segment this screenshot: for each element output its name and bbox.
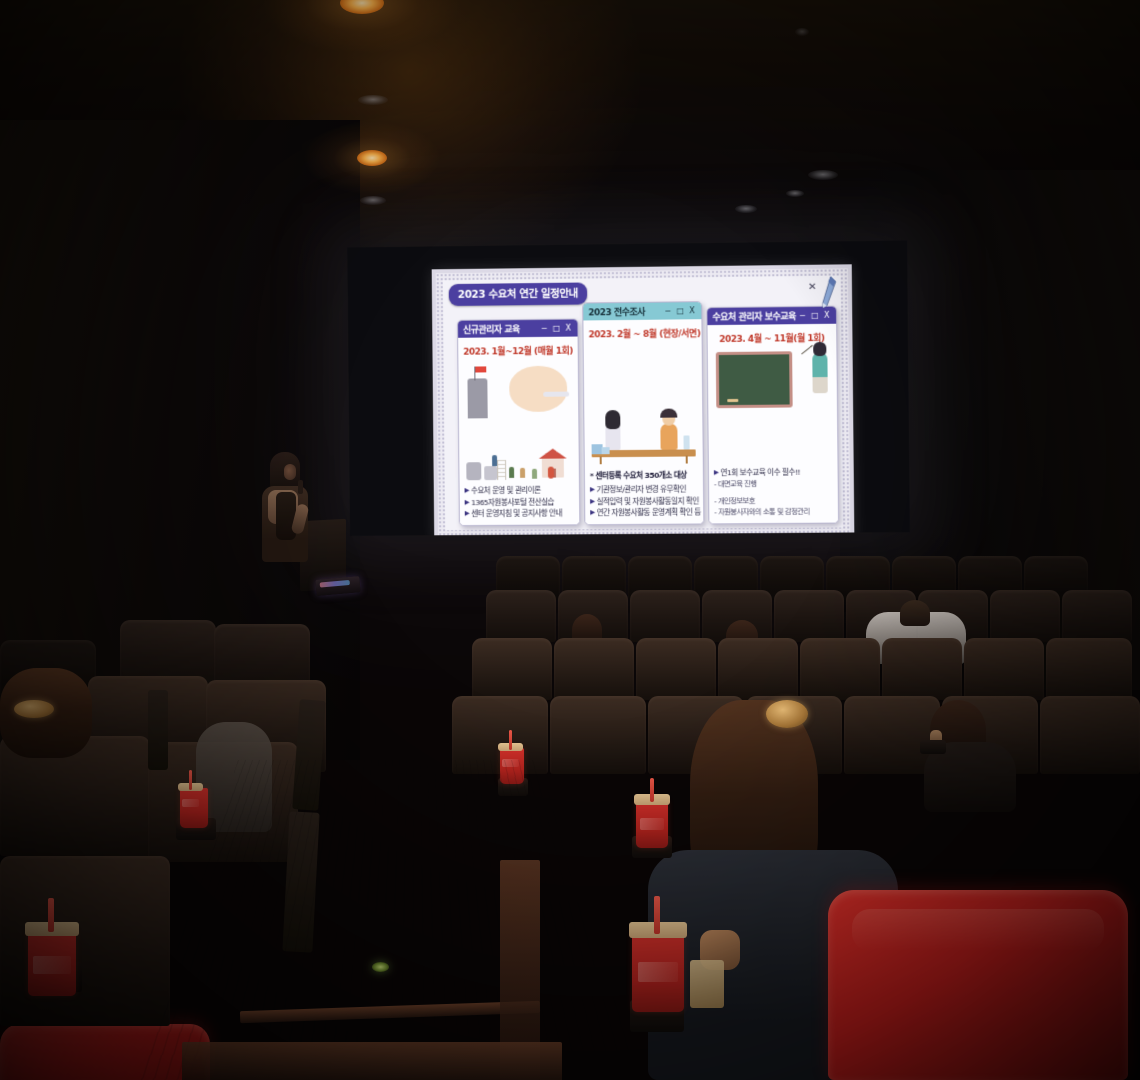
- presenter: [258, 452, 320, 572]
- ceiling-fixture-icon: [358, 95, 388, 105]
- window-controls-icon[interactable]: − □ X: [799, 311, 831, 320]
- ceiling-fixture-icon: [808, 170, 838, 180]
- seat[interactable]: [1046, 638, 1132, 700]
- seat[interactable]: [0, 856, 170, 1026]
- ceiling-fixture-icon: [735, 205, 757, 213]
- seat[interactable]: [550, 696, 646, 774]
- window-title: 신규관리자 교육: [463, 322, 520, 336]
- seat[interactable]: [554, 638, 634, 700]
- window-controls-icon[interactable]: − □ X: [541, 324, 573, 333]
- front-row-red-seat[interactable]: [828, 890, 1128, 1080]
- ceiling-downlight-icon: [340, 0, 384, 14]
- ceiling-downlight-icon: [357, 150, 387, 166]
- sub-note: - 자원봉사자와의 소통 및 감정관리: [714, 507, 833, 519]
- seat[interactable]: [882, 638, 962, 700]
- drink-cup[interactable]: [180, 788, 208, 828]
- seat[interactable]: [800, 638, 880, 700]
- close-x-icon[interactable]: ✕: [808, 282, 817, 293]
- hair-scrunchie: [766, 700, 808, 728]
- ceiling-fixture-icon: [795, 28, 809, 36]
- bullet-list: ▶수요처 운영 및 관리이론 ▶1365자원봉사포털 전산실습 ▶센터 운영지침…: [465, 484, 575, 521]
- window-body: 2023. 4월 ~ 11월(월 1회) ▶연1회 보수교육 이수 필수!! -…: [707, 324, 838, 524]
- window-title: 수요처 관리자 보수교육: [712, 309, 796, 323]
- list-item: ▶수요처 운영 및 관리이론: [465, 484, 575, 496]
- audience-member-head: [900, 600, 930, 626]
- drink-cup[interactable]: [632, 932, 684, 1012]
- seat[interactable]: [1040, 696, 1140, 774]
- presentation-slide: 2023 수요처 연간 일정안내 ✕ 신규관리자 교육 − □ X: [432, 264, 855, 536]
- seat[interactable]: [472, 638, 552, 700]
- seat[interactable]: [486, 590, 556, 642]
- list-item: ▶연1회 보수교육 이수 필수!!: [714, 466, 833, 479]
- drink-cup[interactable]: [636, 800, 668, 848]
- seat[interactable]: [636, 638, 716, 700]
- window-titlebar[interactable]: 2023 전수조사 − □ X: [583, 302, 701, 320]
- sub-note: - 개인정보보호: [714, 496, 833, 508]
- seat[interactable]: [1062, 590, 1132, 642]
- seat[interactable]: [630, 590, 700, 642]
- list-item: ▶1365자원봉사포털 전산실습: [465, 496, 575, 508]
- window-controls-icon[interactable]: − □ X: [664, 306, 696, 315]
- hair-scrunchie: [14, 700, 54, 718]
- window-body: 2023. 2월 ~ 8월 (현장/서면) * 센터등록 수요처 350개: [583, 319, 703, 524]
- drink-cup[interactable]: [28, 930, 76, 996]
- seat[interactable]: [774, 590, 844, 642]
- window-body: 2023. 1월~12월 (매월 1회): [458, 337, 579, 526]
- ceiling-fixture-icon: [786, 190, 804, 197]
- schedule-date: 2023. 1월~12월 (매월 1회): [463, 344, 573, 358]
- aisle-guide-light-icon: [372, 962, 389, 972]
- window-new-manager-training[interactable]: 신규관리자 교육 − □ X 2023. 1월~12월 (매월 1회): [457, 319, 580, 527]
- window-titlebar[interactable]: 수요처 관리자 보수교육 − □ X: [707, 307, 836, 325]
- armrest: [148, 690, 168, 770]
- popcorn-bag: [690, 960, 724, 1008]
- window-title: 2023 전수조사: [588, 305, 645, 319]
- bullet-list: ▶기관정보/관리자 변경 유무확인 ▶실적입력 및 자원봉사활동일지 확인 ▶연…: [590, 483, 698, 520]
- chalkboard-teacher-icon: [713, 347, 833, 464]
- microphone-icon: [298, 480, 303, 494]
- seat[interactable]: [964, 638, 1044, 700]
- cup-holder: [920, 740, 946, 754]
- step-edge: [182, 1042, 562, 1080]
- survey-scope-note: * 센터등록 수요처 350개소 대상: [590, 469, 698, 481]
- list-item: ▶센터 운영지침 및 공지사항 안내: [465, 508, 575, 520]
- auditorium-scene: 2023 수요처 연간 일정안내 ✕ 신규관리자 교육 − □ X: [0, 0, 1140, 1080]
- slide-title: 2023 수요처 연간 일정안내: [449, 282, 587, 306]
- ceiling-fixture-icon: [360, 196, 386, 205]
- seat[interactable]: [990, 590, 1060, 642]
- window-manager-refresher-training[interactable]: 수요처 관리자 보수교육 − □ X 2023. 4월 ~ 11월(월 1회): [706, 306, 839, 525]
- bullet-list: ▶연1회 보수교육 이수 필수!! - 대면교육 진행 - 개인정보보호 - 자…: [714, 466, 833, 519]
- schedule-date: 2023. 2월 ~ 8월 (현장/서면): [588, 326, 696, 340]
- list-item: ▶기관정보/관리자 변경 유무확인: [590, 483, 698, 496]
- pencil-icon: [821, 276, 837, 310]
- window-full-survey[interactable]: 2023 전수조사 − □ X 2023. 2월 ~ 8월 (현장/서면): [582, 301, 704, 525]
- counter-consultation-icon: [589, 342, 698, 467]
- seat[interactable]: [718, 638, 798, 700]
- list-item: ▶연간 자원봉사활동 운영계획 확인 등: [590, 507, 698, 519]
- city-buildings-and-house-icon: [463, 360, 574, 483]
- list-item: ▶실적입력 및 자원봉사활동일지 확인: [590, 495, 698, 507]
- projection-screen: 2023 수요처 연간 일정안내 ✕ 신규관리자 교육 − □ X: [347, 240, 910, 535]
- schedule-date: 2023. 4월 ~ 11월(월 1회): [713, 331, 832, 345]
- window-titlebar[interactable]: 신규관리자 교육 − □ X: [458, 320, 578, 338]
